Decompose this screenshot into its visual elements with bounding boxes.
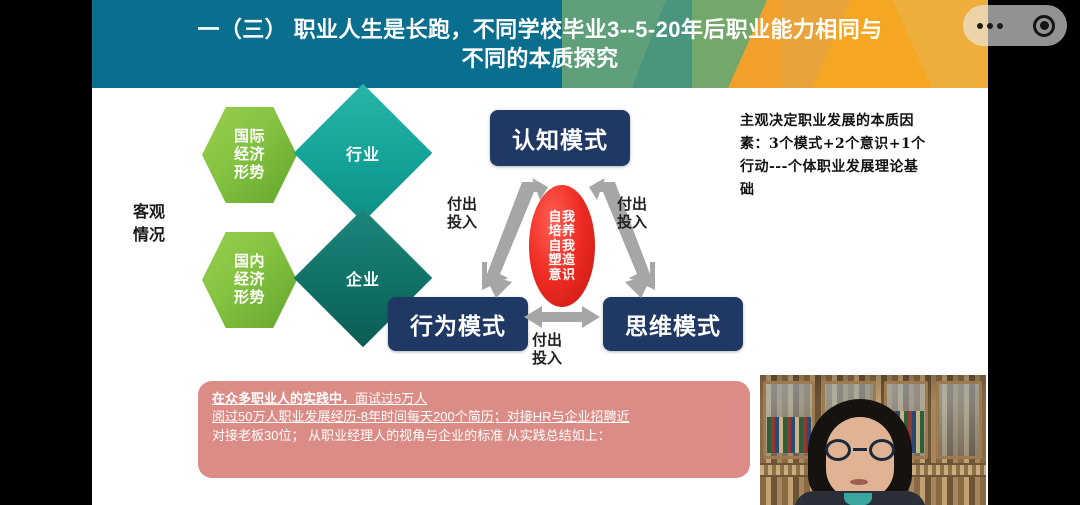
hex-dom-line-3: 形势 [234, 289, 265, 307]
practice-summary-line-1-bold: 在众多职业人的实践中， [212, 391, 355, 406]
mode-box-cognitive: 认知模式 [490, 110, 630, 166]
hexagon-domestic-economy: 国内 经济 形势 [202, 230, 297, 330]
arrow-label-right-line-1: 付出 [617, 196, 647, 214]
arrow-label-bottom-line-1: 付出 [532, 332, 562, 350]
glasses-lens-right [869, 439, 895, 461]
arrow-label-bottom-line-2: 投入 [532, 350, 562, 368]
more-dot-3 [997, 23, 1003, 29]
glasses-lens-left [825, 439, 851, 461]
hex-intl-line-3: 形势 [234, 164, 265, 182]
presenter-collar [844, 493, 872, 505]
presenter-mouth [850, 479, 868, 485]
core-line-3: 自我 [548, 239, 575, 254]
arrow-label-left-line-2: 投入 [447, 214, 477, 232]
arrow-label-left-line-1: 付出 [447, 196, 477, 214]
diamond-company-label: 企业 [346, 266, 380, 290]
practice-summary-box: 在众多职业人的实践中，面试过5万人 阅过50万人职业发展经历-8年时间每天200… [198, 381, 750, 478]
core-line-5: 意识 [548, 268, 575, 283]
core-line-1: 自我 [548, 210, 575, 225]
presenter-glasses-icon [824, 439, 896, 461]
more-horizontal-icon[interactable] [977, 23, 1003, 29]
slide-title: 一（三） 职业人生是长跑，不同学校毕业3--5-20年后职业能力相同与 不同的本… [92, 0, 988, 88]
practice-summary-line-1-rest: 面试过5万人 [355, 391, 427, 406]
floating-control-pill[interactable] [963, 5, 1067, 46]
record-circle-icon[interactable] [1033, 15, 1055, 37]
more-dot-1 [977, 23, 983, 29]
mode-box-behavior: 行为模式 [388, 297, 528, 351]
shelf-pane-4 [936, 381, 982, 459]
practice-summary-line-1: 在众多职业人的实践中，面试过5万人 [212, 390, 738, 408]
arrow-label-right-line-2: 投入 [617, 214, 647, 232]
objective-situation-label: 客观 情况 [114, 200, 184, 246]
diamond-industry: 行业 [294, 84, 433, 223]
mode-box-thinking-label: 思维模式 [625, 307, 721, 341]
screen-share-view: 一（三） 职业人生是长跑，不同学校毕业3--5-20年后职业能力相同与 不同的本… [0, 0, 1080, 505]
arrow-horizontal-double-icon [524, 304, 600, 330]
practice-summary-line-3: 对接老板30位； 从职业经理人的视角与企业的标准 从实践总结如上： [212, 427, 738, 445]
hex-dom-line-1: 国内 [234, 253, 265, 271]
diamond-industry-label: 行业 [346, 141, 380, 165]
presenter-webcam-thumbnail[interactable] [760, 375, 986, 505]
hex-intl-line-1: 国际 [234, 128, 265, 146]
practice-summary-line-2: 阅过50万人职业发展经历-8年时间每天200个简历；对接HR与企业招聘近 [212, 408, 738, 426]
core-line-4: 塑造 [548, 253, 575, 268]
arrow-label-right: 付出 投入 [617, 196, 647, 233]
hexagon-international-economy: 国际 经济 形势 [202, 105, 297, 205]
arrow-label-bottom: 付出 投入 [532, 332, 562, 369]
arrow-label-left: 付出 投入 [447, 196, 477, 233]
core-line-2: 培养 [548, 224, 575, 239]
slide-title-line-2: 不同的本质探究 [462, 44, 619, 73]
record-dot [1040, 21, 1049, 30]
mode-box-cognitive-label: 认知模式 [512, 121, 608, 155]
objective-label-line-2: 情况 [114, 223, 184, 246]
glasses-bridge [853, 448, 867, 451]
slide-header-banner: 一（三） 职业人生是长跑，不同学校毕业3--5-20年后职业能力相同与 不同的本… [92, 0, 988, 88]
slide-title-line-1: 一（三） 职业人生是长跑，不同学校毕业3--5-20年后职业能力相同与 [197, 15, 882, 44]
right-annotation-note: 主观决定职业发展的本质因素：3个模式+2个意识+1个行动---个体职业发展理论基… [740, 110, 930, 202]
objective-label-line-1: 客观 [114, 200, 184, 223]
mode-box-behavior-label: 行为模式 [410, 307, 506, 341]
core-self-cultivation-ellipse: 自我 培养 自我 塑造 意识 [529, 185, 595, 307]
shelf-books-1 [767, 417, 811, 453]
hex-dom-line-2: 经济 [234, 271, 265, 289]
mode-box-thinking: 思维模式 [603, 297, 743, 351]
hex-intl-line-2: 经济 [234, 146, 265, 164]
more-dot-2 [987, 23, 993, 29]
